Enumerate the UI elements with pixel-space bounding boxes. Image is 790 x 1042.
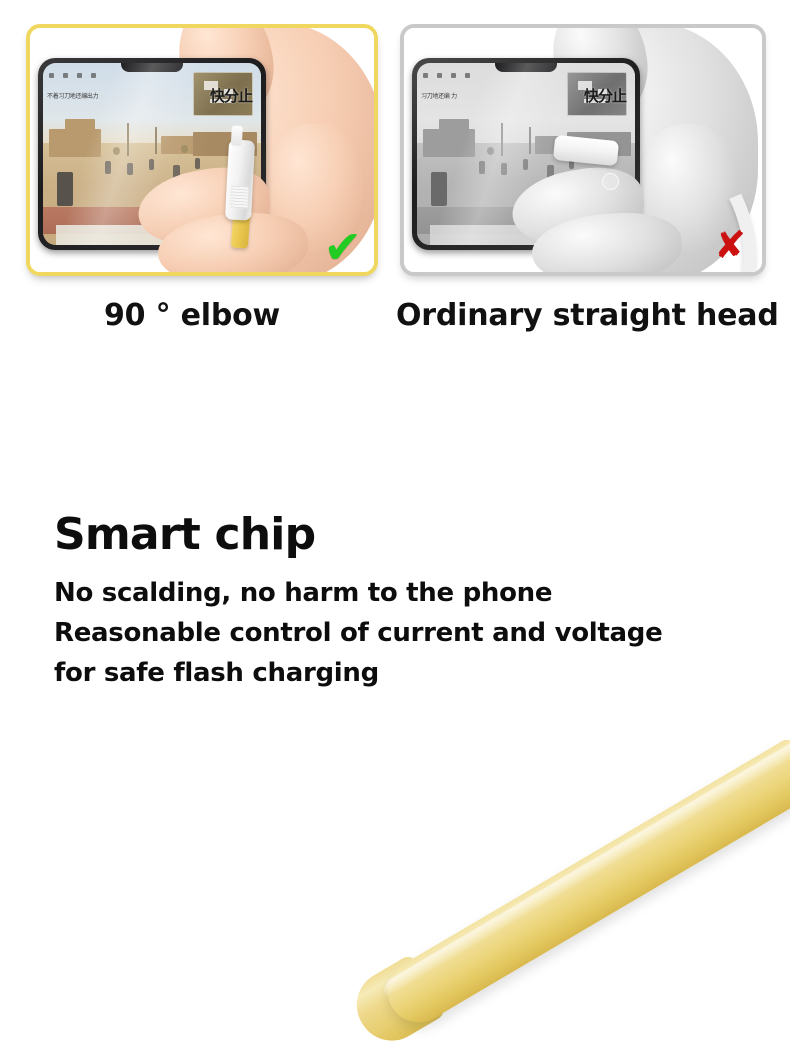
cable-body: [376, 740, 790, 1034]
panel-bad-image: 快分止 习刀地还编 力 ✘: [404, 28, 762, 272]
hud-icon: [63, 73, 68, 78]
caption-bad: Ordinary straight head: [396, 298, 779, 333]
hud-icon: [437, 73, 442, 78]
game-tree: [487, 147, 494, 155]
hud-icon: [91, 73, 96, 78]
game-character: [57, 172, 73, 206]
phone-notch: [495, 63, 557, 72]
hud-icon: [451, 73, 456, 78]
comparison-panel-bad: 快分止 习刀地还编 力 ✘: [400, 24, 766, 276]
feature-line: No scalding, no harm to the phone: [54, 574, 754, 614]
feature-line: Reasonable control of current and voltag…: [54, 614, 754, 654]
feature-title: Smart chip: [54, 512, 754, 558]
game-tree: [113, 147, 120, 155]
hud-icon: [465, 73, 470, 78]
feature-line: for safe flash charging: [54, 654, 754, 694]
comparison-section: 快分止 不着习刀地还编出力 ✔: [0, 0, 790, 285]
game-tree: [181, 145, 188, 153]
caption-row: 90 ° elbow Ordinary straight head: [0, 298, 790, 350]
game-pole: [501, 123, 503, 156]
hud-icon: [77, 73, 82, 78]
game-character: [479, 161, 485, 174]
game-character: [105, 161, 111, 174]
game-character: [195, 158, 200, 169]
comparison-panel-good: 快分止 不着习刀地还编出力 ✔: [26, 24, 378, 276]
product-cable-photo: [0, 740, 790, 1042]
game-hud-icons: [423, 73, 470, 78]
game-pole: [529, 127, 531, 154]
scene-hand-holding-phone-elbow: 快分止 不着习刀地还编出力: [30, 28, 374, 272]
game-building: [439, 119, 469, 135]
game-hud-left-text: 习刀地还编 力: [421, 91, 457, 100]
game-pole: [155, 127, 157, 154]
game-building: [65, 119, 95, 135]
game-character: [149, 159, 154, 170]
game-overlay-text: 快分止: [210, 89, 252, 104]
game-hud-left-text: 不着习刀地还编出力: [47, 91, 98, 100]
hud-icon: [423, 73, 428, 78]
game-pole: [127, 123, 129, 156]
game-character: [523, 159, 528, 170]
hud-icon: [49, 73, 54, 78]
game-overlay-text: 快分止: [584, 89, 626, 104]
game-character: [127, 163, 133, 175]
game-character: [431, 172, 447, 206]
phone-notch: [121, 63, 183, 72]
caption-good: 90 ° elbow: [104, 298, 280, 333]
feature-block: Smart chip No scalding, no harm to the p…: [54, 512, 754, 693]
panel-good-image: 快分止 不着习刀地还编出力 ✔: [30, 28, 374, 272]
game-hud-icons: [49, 73, 96, 78]
cross-icon: ✘: [714, 226, 746, 264]
scene-hand-holding-phone-straight: 快分止 习刀地还编 力: [404, 28, 762, 272]
elbow-connector-plug: [225, 139, 255, 220]
checkmark-icon: ✔: [323, 224, 362, 270]
game-character: [501, 163, 507, 175]
feature-description: No scalding, no harm to the phone Reason…: [54, 574, 754, 693]
